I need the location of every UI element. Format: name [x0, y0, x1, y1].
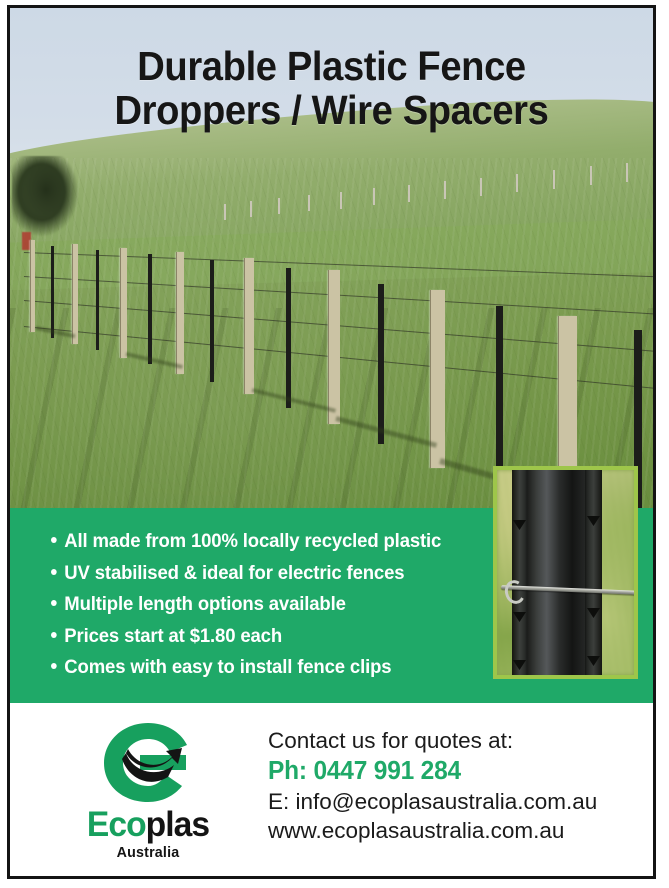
footer: Ecoplas Australia Contact us for quotes …: [10, 703, 653, 876]
feature-text: Comes with easy to install fence clips: [64, 656, 391, 678]
contact-phone[interactable]: Ph: 0447 991 284: [268, 755, 633, 787]
company-logo: Ecoplas Australia: [68, 719, 228, 861]
list-item: UV stabilised & ideal for electric fence…: [51, 558, 460, 590]
features-list: All made from 100% locally recycled plas…: [51, 526, 481, 684]
logo-wordmark: Ecoplas: [71, 807, 225, 842]
bullet-dot-icon: [51, 663, 57, 669]
logo-word-plas: plas: [146, 805, 209, 844]
feature-text: UV stabilised & ideal for electric fence…: [64, 562, 404, 584]
list-item: All made from 100% locally recycled plas…: [51, 526, 460, 558]
bullet-dot-icon: [51, 632, 57, 638]
list-item: Multiple length options available: [51, 589, 460, 621]
contact-website[interactable]: www.ecoplasaustralia.com.au: [268, 816, 648, 845]
dropper-right-flange: [585, 466, 602, 679]
contact-block: Contact us for quotes at: Ph: 0447 991 2…: [268, 726, 648, 845]
inset-product-photo: [493, 466, 638, 679]
plastic-fence-dropper: [527, 466, 585, 679]
page-title: Durable Plastic Fence Droppers / Wire Sp…: [33, 44, 631, 133]
bullet-dot-icon: [51, 537, 57, 543]
bullet-dot-icon: [51, 600, 57, 606]
list-item: Prices start at $1.80 each: [51, 621, 460, 653]
headline-line-1: Durable Plastic Fence: [137, 43, 525, 89]
logo-word-eco: Eco: [87, 805, 146, 844]
contact-intro: Contact us for quotes at:: [268, 726, 648, 755]
logo-subtitle: Australia: [72, 844, 224, 861]
recycle-e-icon: [96, 719, 200, 805]
bullet-dot-icon: [51, 569, 57, 575]
list-item: Comes with easy to install fence clips: [51, 652, 460, 684]
feature-text: Multiple length options available: [64, 593, 345, 615]
feature-text: Prices start at $1.80 each: [64, 625, 282, 647]
contact-email[interactable]: E: info@ecoplasaustralia.com.au: [268, 787, 648, 816]
feature-text: All made from 100% locally recycled plas…: [64, 530, 441, 552]
advertisement-card: Durable Plastic Fence Droppers / Wire Sp…: [7, 5, 656, 879]
headline-line-2: Droppers / Wire Spacers: [33, 88, 631, 132]
